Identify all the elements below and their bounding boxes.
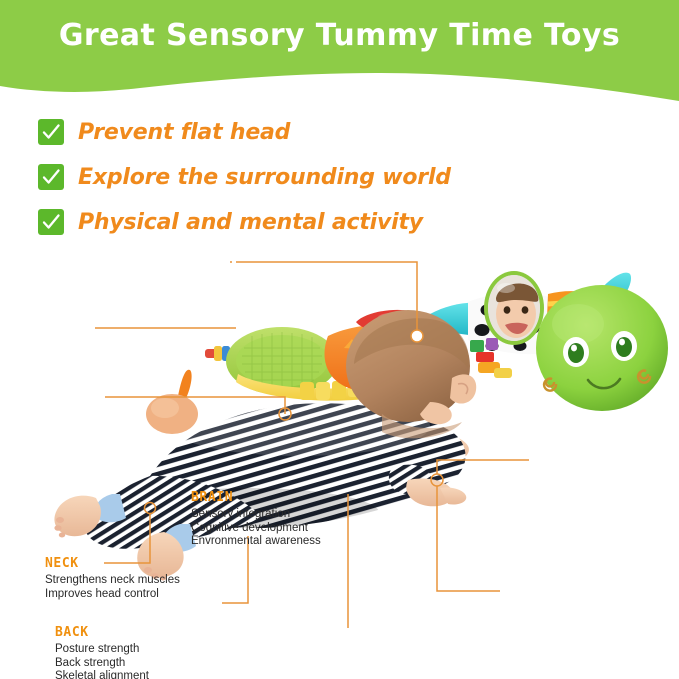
check-icon [38, 164, 64, 190]
callout-brain: BRAIN Sensory integration Cognitive deve… [191, 491, 321, 549]
benefit-list: Prevent flat head Explore the surroundin… [38, 112, 598, 247]
page-title: Great Sensory Tummy Time Toys [0, 18, 679, 53]
callout-title: NECK [45, 557, 180, 571]
toy-plush-ball [146, 370, 198, 434]
callout-body: Strengthens neck muscles Improves head c… [45, 574, 180, 601]
callout-body: Posture strength Back strength Skeletal … [55, 643, 149, 679]
callout-neck: NECK Strengthens neck muscles Improves h… [45, 557, 180, 601]
check-icon [38, 119, 64, 145]
benefit-label: Physical and mental activity [78, 210, 423, 235]
benefit-label: Explore the surrounding world [78, 165, 451, 190]
callout-body: Sensory integration Cognitive developmen… [191, 508, 321, 549]
list-item: Explore the surrounding world [38, 157, 598, 197]
check-icon [38, 209, 64, 235]
callout-back: BACK Posture strength Back strength Skel… [55, 626, 149, 679]
product-photo: BRAIN Sensory integration Cognitive deve… [0, 236, 679, 679]
infographic-page: Great Sensory Tummy Time Toys Prevent fl… [0, 0, 679, 679]
list-item: Prevent flat head [38, 112, 598, 152]
benefit-label: Prevent flat head [78, 120, 290, 145]
header-band: Great Sensory Tummy Time Toys [0, 0, 679, 110]
callout-title: BRAIN [191, 491, 321, 505]
callout-title: BACK [55, 626, 149, 640]
